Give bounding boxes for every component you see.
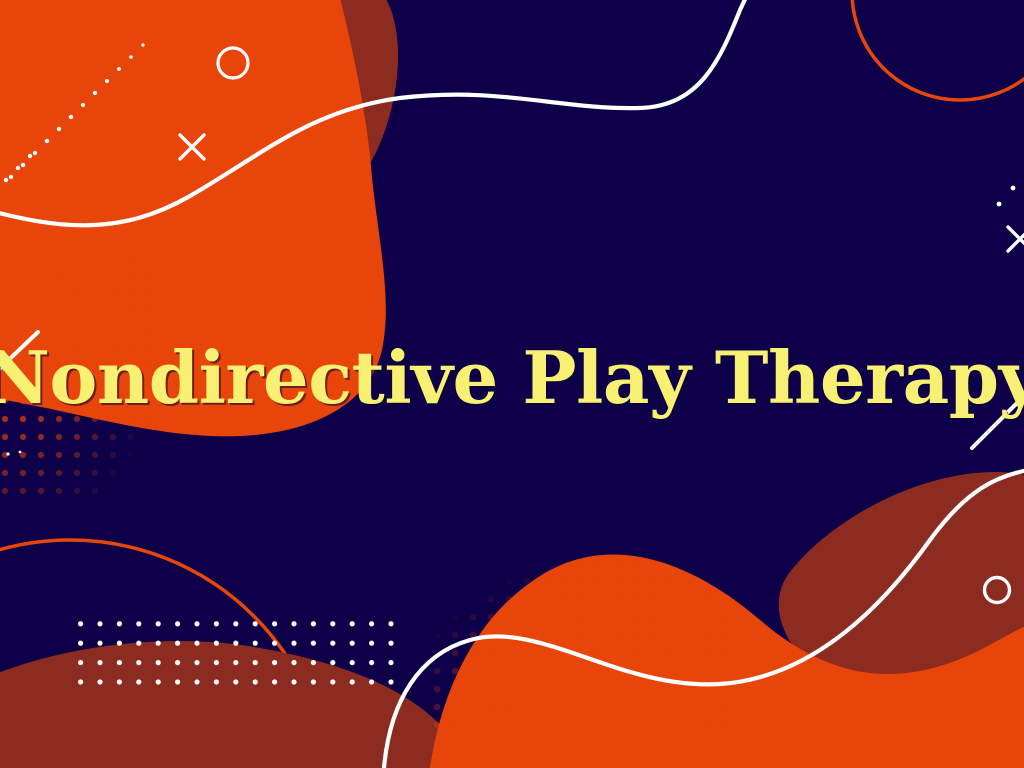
halftone-left-edge [0,255,190,505]
dot-grid-bottom-left [74,618,398,694]
presentation-slide: Nondirective Play Therapy [0,0,1024,768]
slide-background-art [0,0,1024,768]
